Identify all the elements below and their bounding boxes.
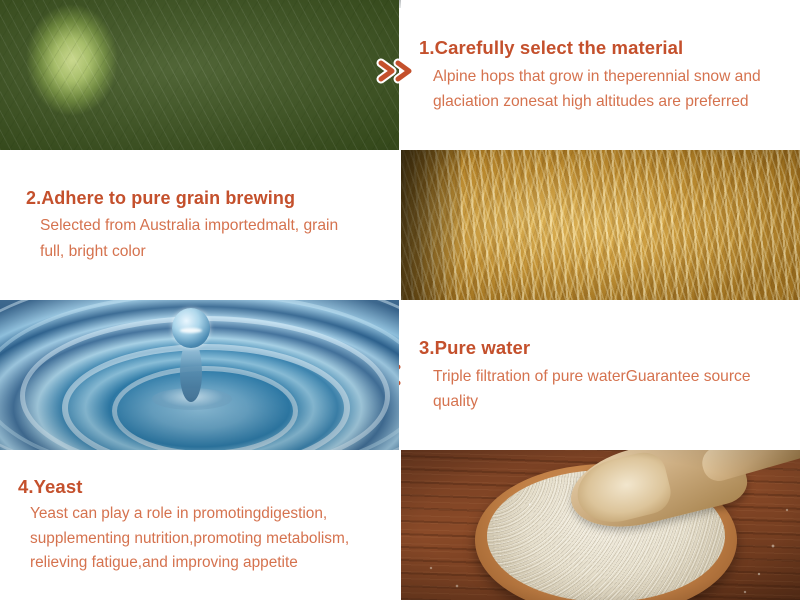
panel-1-text-area: 1.Carefully select the material Alpine h… bbox=[401, 0, 800, 150]
panel-1-title: 1.Carefully select the material bbox=[419, 36, 794, 61]
panel-4-image bbox=[401, 450, 800, 600]
brewing-process-infographic: 1.Carefully select the material Alpine h… bbox=[0, 0, 800, 600]
panel-2-text-area: 2.Adhere to pure grain brewing Selected … bbox=[0, 150, 399, 300]
panel-3-image bbox=[0, 300, 399, 450]
panel-1-image bbox=[0, 0, 399, 150]
panel-3: 3.Pure water Triple filtration of pure w… bbox=[0, 300, 800, 450]
panel-4-body: Yeast can play a role in promotingdigest… bbox=[14, 502, 365, 575]
panel-4-title: 4.Yeast bbox=[14, 475, 365, 500]
water-droplet-photo bbox=[0, 300, 399, 450]
hops-photo bbox=[0, 0, 399, 150]
wheat-photo bbox=[401, 150, 800, 300]
panel-3-title: 3.Pure water bbox=[419, 336, 790, 361]
panel-4-text-area: 4.Yeast Yeast can play a role in promoti… bbox=[0, 450, 399, 600]
panel-2-body: Selected from Australia importedmalt, gr… bbox=[26, 213, 359, 264]
wheat-dark-edge bbox=[401, 150, 461, 300]
panel-2-image bbox=[401, 150, 800, 300]
panel-2-title: 2.Adhere to pure grain brewing bbox=[26, 186, 359, 210]
panel-4: 4.Yeast Yeast can play a role in promoti… bbox=[0, 450, 800, 600]
panel-2: 2.Adhere to pure grain brewing Selected … bbox=[0, 150, 800, 300]
yeast-photo bbox=[401, 450, 800, 600]
hops-shading bbox=[0, 0, 399, 150]
water-gloss bbox=[0, 300, 399, 450]
yeast-vignette bbox=[401, 450, 800, 600]
panel-3-text-area: 3.Pure water Triple filtration of pure w… bbox=[401, 300, 800, 450]
panel-1: 1.Carefully select the material Alpine h… bbox=[0, 0, 800, 150]
panel-1-body: Alpine hops that grow in theperennial sn… bbox=[419, 64, 794, 115]
panel-3-body: Triple filtration of pure waterGuarantee… bbox=[419, 364, 790, 415]
